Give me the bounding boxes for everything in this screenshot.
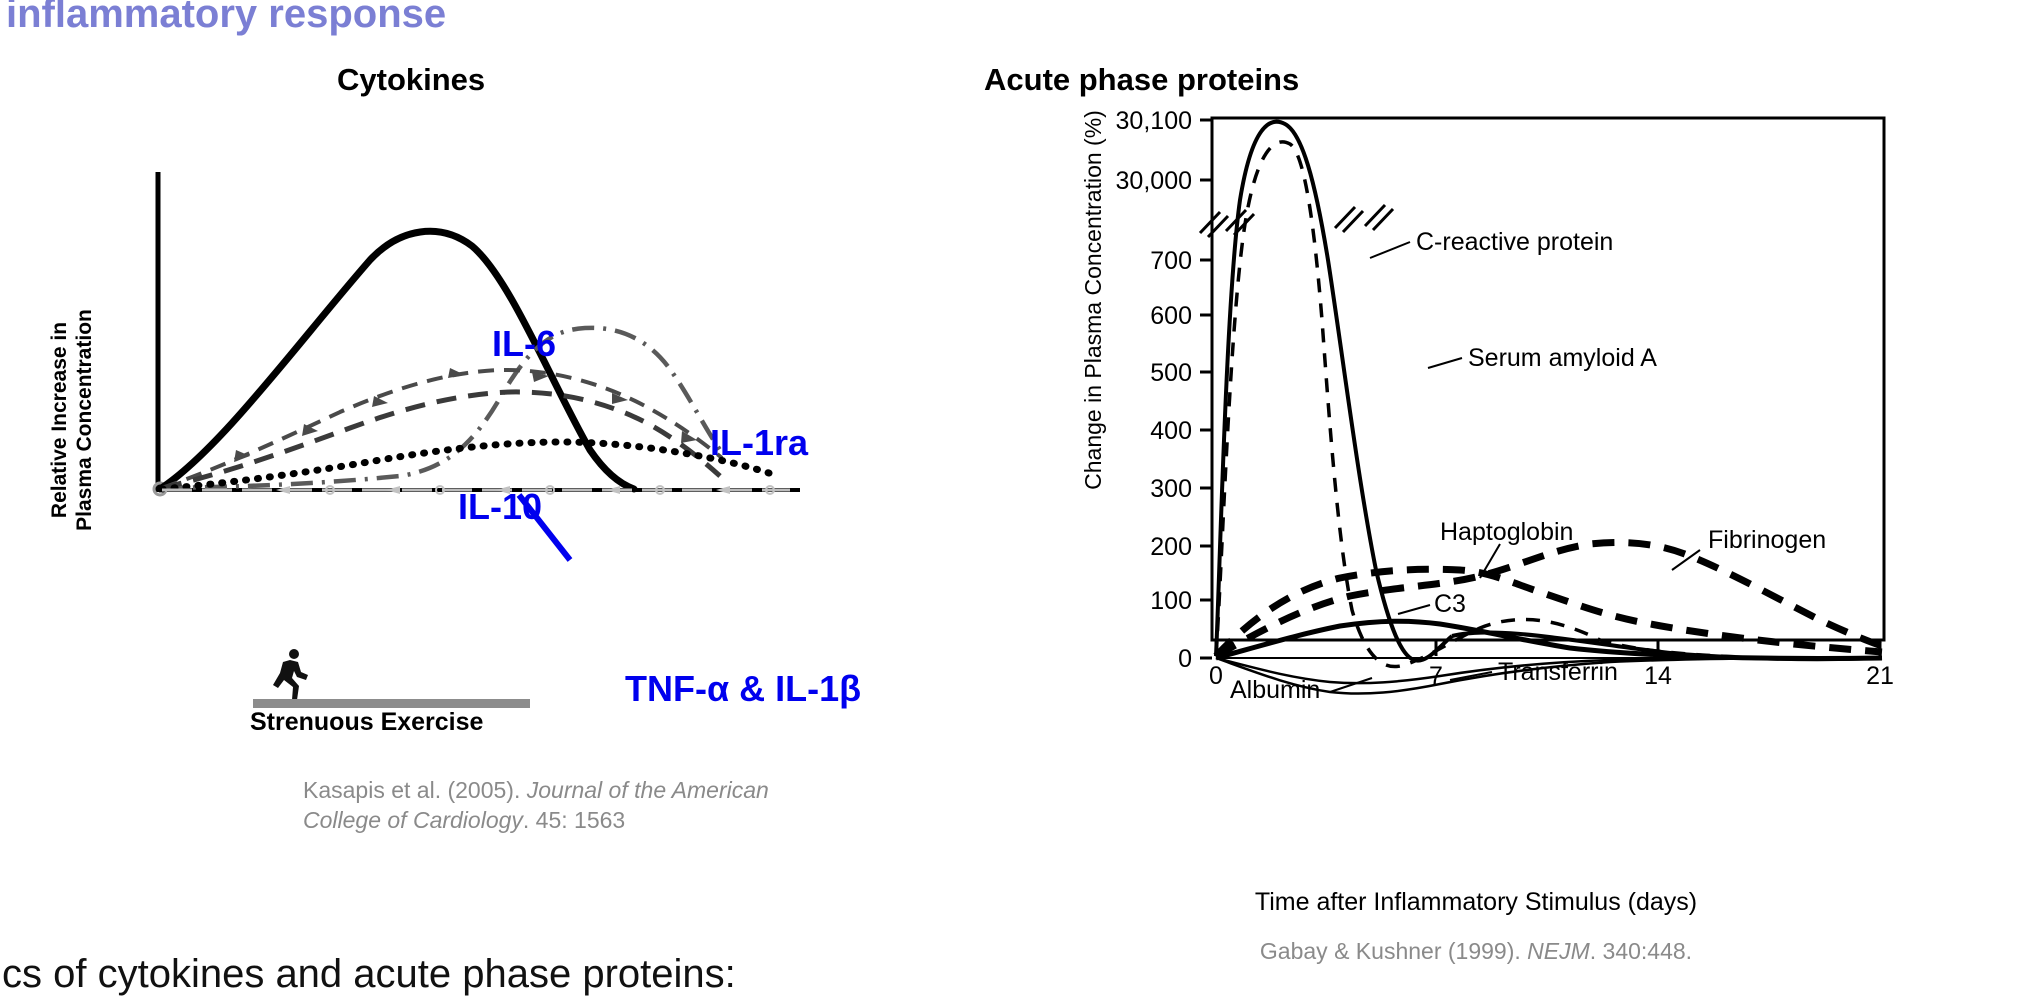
left-y-axis-label-line1: Relative Increase in (48, 270, 73, 570)
slide-title: inflammatory response (6, 0, 446, 37)
label-haptoglobin: Haptoglobin (1440, 518, 1573, 546)
curve-il6 (160, 231, 634, 489)
strenuous-exercise-bar (253, 699, 530, 708)
label-il1ra: IL-1ra (710, 422, 808, 464)
app-plot-svg: 30,100 30,000 700 600 500 400 300 200 10… (1080, 100, 1910, 700)
left-x-axis-label: Strenuous Exercise (250, 708, 483, 737)
curve-il10-upper (162, 370, 722, 488)
left-y-axis-label-line2: Plasma Concentration (73, 270, 98, 570)
svg-text:200: 200 (1150, 533, 1192, 561)
right-citation-author: Gabay & Kushner (1999). (1260, 938, 1527, 964)
y-tick-labels: 30,100 30,000 700 600 500 400 300 200 10… (1116, 107, 1192, 673)
svg-text:0: 0 (1209, 662, 1223, 690)
plot-frame (1212, 118, 1884, 640)
left-citation: Kasapis et al. (2005). Journal of the Am… (303, 775, 773, 836)
axis-break-marks (1200, 205, 1393, 237)
svg-text:500: 500 (1150, 359, 1192, 387)
right-citation-journal: NEJM (1527, 938, 1590, 964)
label-c3: C3 (1434, 590, 1466, 618)
label-transferrin: Transferrin (1498, 658, 1618, 686)
label-albumin: Albumin (1230, 676, 1320, 700)
svg-text:100: 100 (1150, 587, 1192, 615)
right-citation-pages: . 340:448. (1590, 938, 1692, 964)
left-y-axis-label: Relative Increase in Plasma Concentratio… (48, 270, 98, 570)
right-citation: Gabay & Kushner (1999). NEJM. 340:448. (1096, 938, 1856, 965)
svg-text:14: 14 (1644, 662, 1672, 690)
label-tnf-il1b: TNF-α & IL-1β (625, 668, 861, 710)
right-panel-heading: Acute phase proteins (984, 62, 1299, 98)
svg-text:21: 21 (1866, 662, 1894, 690)
left-citation-author: Kasapis et al. (2005). (303, 777, 527, 803)
svg-text:400: 400 (1150, 417, 1192, 445)
label-serum-amyloid-a: Serum amyloid A (1468, 344, 1657, 372)
svg-text:600: 600 (1150, 302, 1192, 330)
curve-leader-lines (1330, 242, 1700, 692)
svg-text:30,100: 30,100 (1116, 107, 1192, 135)
svg-text:700: 700 (1150, 247, 1192, 275)
label-il10: IL-10 (458, 486, 542, 528)
label-fibrinogen: Fibrinogen (1708, 526, 1826, 554)
acute-phase-proteins-chart: Change in Plasma Concentration (%) 30,10… (1080, 100, 1910, 700)
left-panel-heading: Cytokines (337, 62, 485, 98)
y-ticks (1200, 120, 1212, 600)
slide-bottom-text: tics of cytokines and acute phase protei… (0, 952, 736, 997)
right-x-axis-label: Time after Inflammatory Stimulus (days) (1096, 888, 1856, 917)
svg-text:30,000: 30,000 (1116, 167, 1192, 195)
label-il6: IL-6 (492, 323, 556, 365)
cytokines-chart: Relative Increase in Plasma Concentratio… (100, 150, 900, 710)
runner-icon (268, 648, 314, 704)
left-citation-pages: . 45: 1563 (523, 807, 625, 833)
svg-text:0: 0 (1178, 645, 1192, 673)
svg-text:300: 300 (1150, 475, 1192, 503)
label-c-reactive-protein: C-reactive protein (1416, 228, 1613, 256)
curve-crp (1216, 122, 1452, 661)
